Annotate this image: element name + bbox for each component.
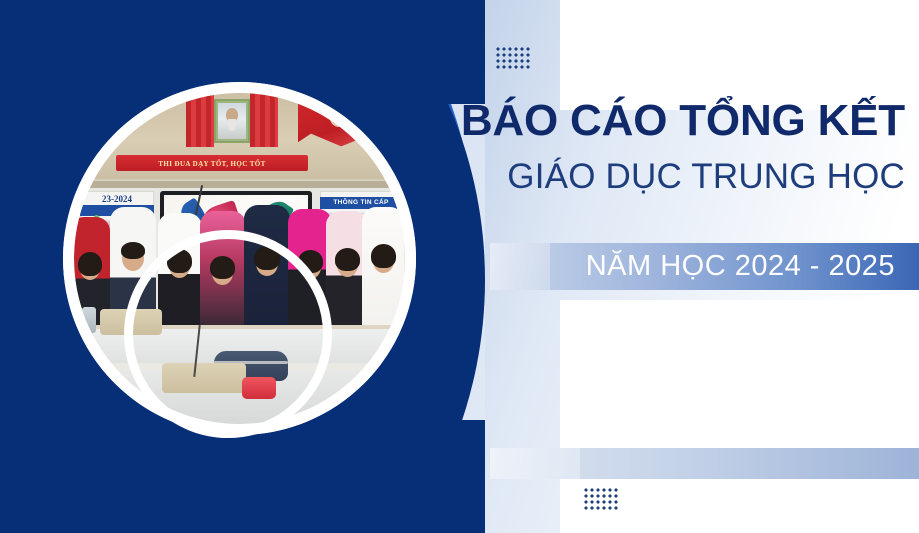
photo-inner-ring	[124, 230, 332, 438]
photo-whiteboard-left-year: 23-2024	[80, 193, 154, 205]
background-right-top-white	[560, 0, 919, 110]
slide-subtitle: GIÁO DỤC TRUNG HỌC	[450, 155, 905, 199]
photo-person-7-hair	[335, 248, 360, 271]
photo-person-1-hair	[78, 252, 102, 276]
year-banner-text: NĂM HỌC 2024 - 2025	[490, 243, 895, 290]
dot-grid-bottom-icon	[583, 487, 619, 511]
photo-person-2-hair	[121, 242, 145, 259]
slide-canvas: THI ĐUA DẠY TỐT, HỌC TỐT 23-2024 KÍNH CH…	[0, 0, 919, 533]
photo-portrait-beard	[228, 119, 236, 131]
bottom-accent-band-fade	[490, 448, 580, 479]
photo-wall-ledge	[74, 181, 405, 188]
slide-title: BÁO CÁO TỔNG KẾT	[450, 95, 905, 147]
photo-red-stripe-right	[250, 93, 278, 147]
photo-flag-emblem	[330, 109, 348, 127]
photo-water-bottle	[82, 307, 96, 333]
dot-grid-top-icon	[495, 46, 531, 70]
navy-notch-bottom	[222, 420, 490, 533]
photo-person-8-hair	[371, 244, 396, 268]
photo-slogan-text: THI ĐUA DẠY TỐT, HỌC TỐT	[116, 156, 308, 172]
photo-red-stripe-left	[186, 93, 214, 147]
